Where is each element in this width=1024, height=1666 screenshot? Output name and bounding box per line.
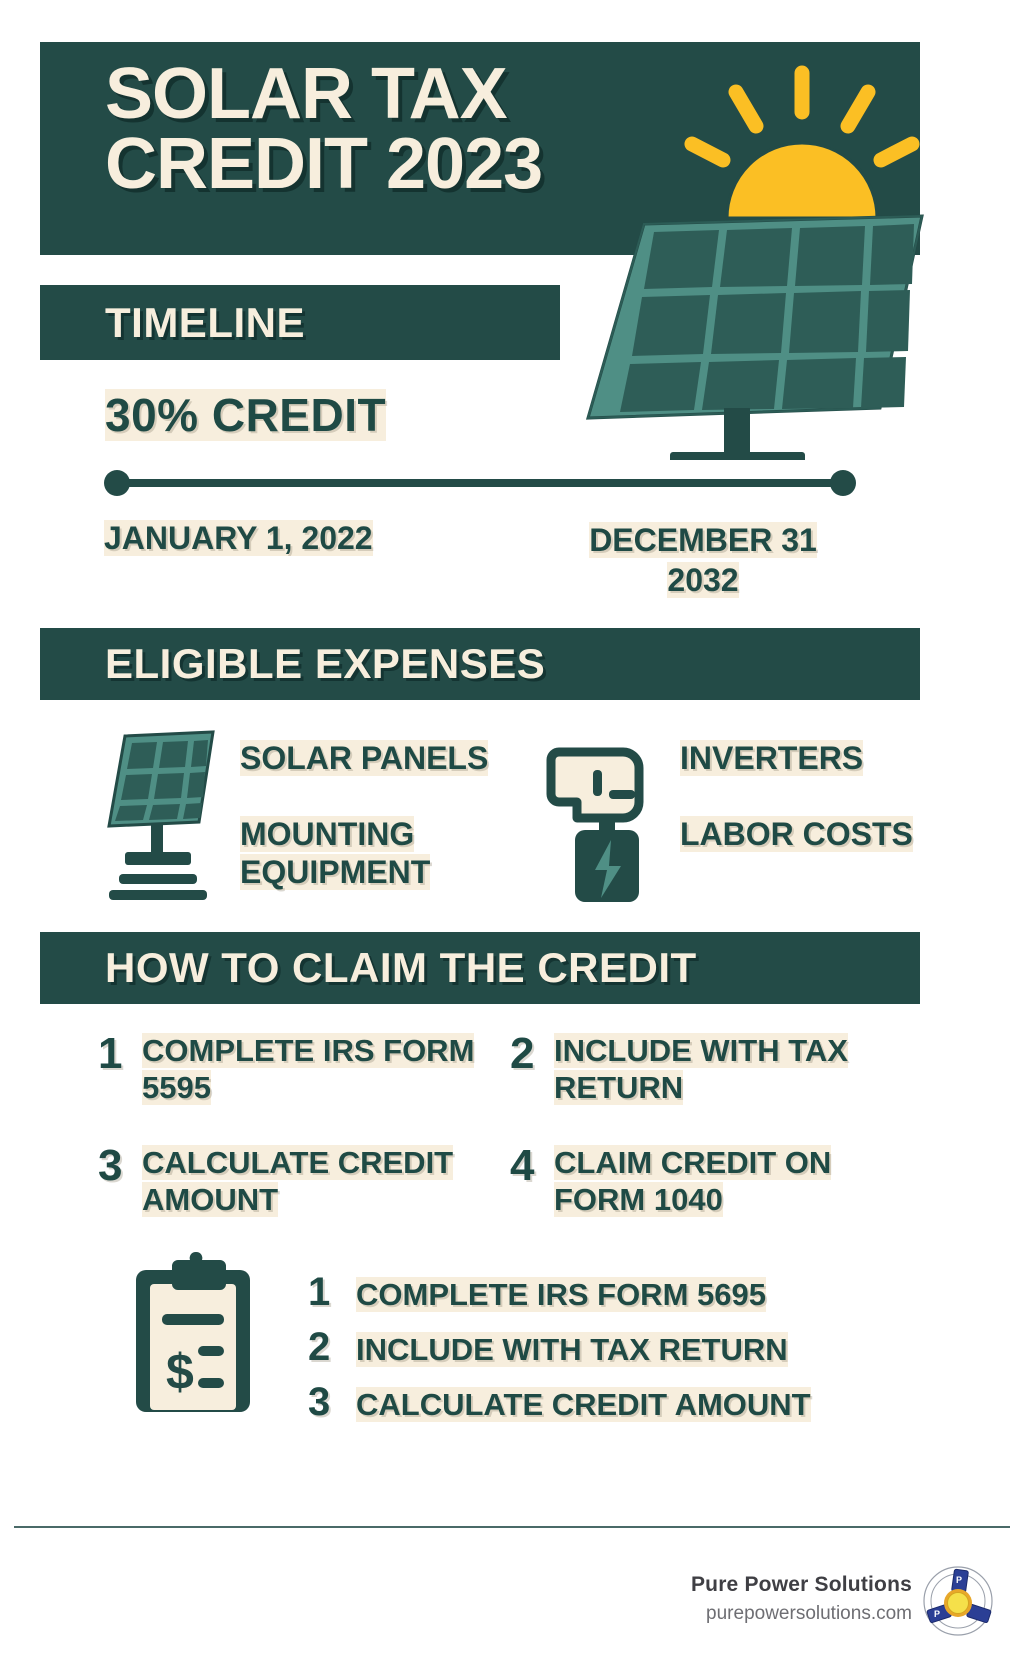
step-label: COMPLETE IRS FORM 5595 <box>142 1032 478 1106</box>
footer: Pure Power Solutions purepowersolutions.… <box>0 1545 1024 1655</box>
sun-and-panel-icon <box>540 40 980 460</box>
pure-power-solutions-logo: P P <box>922 1565 994 1637</box>
claim-step: 3 CALCULATE CREDIT AMOUNT <box>98 1144 478 1218</box>
timeline-line <box>114 479 846 487</box>
checklist-label: INCLUDE WITH TAX RETURN <box>356 1332 788 1368</box>
checklist-label: COMPLETE IRS FORM 5695 <box>356 1277 766 1313</box>
step-label: CLAIM CREDIT ON FORM 1040 <box>554 1144 890 1218</box>
step-number: 2 <box>510 1032 554 1076</box>
section-header-eligible-expenses: ELIGIBLE EXPENSES <box>40 628 920 700</box>
inverter-icon <box>551 752 639 818</box>
svg-text:P: P <box>934 1609 940 1619</box>
step-label: CALCULATE CREDIT AMOUNT <box>142 1144 478 1218</box>
eligible-item-mounting-equipment: MOUNTING EQUIPMENT <box>240 816 510 892</box>
eligible-left-labels: SOLAR PANELS MOUNTING EQUIPMENT <box>240 740 510 891</box>
battery-icon <box>575 822 639 902</box>
checklist-row: 2 INCLUDE WITH TAX RETURN <box>308 1325 988 1370</box>
footer-divider <box>14 1526 1010 1528</box>
step-label: INCLUDE WITH TAX RETURN <box>554 1032 890 1106</box>
svg-text:$: $ <box>166 1344 194 1400</box>
section-header-timeline: TIMELINE <box>40 285 560 360</box>
sun-dome-icon <box>727 143 877 218</box>
infographic-page: SOLAR TAX CREDIT 2023 <box>0 0 1024 1666</box>
hero-solar-artwork <box>540 40 980 460</box>
checklist-label: CALCULATE CREDIT AMOUNT <box>356 1387 811 1423</box>
svg-text:P: P <box>956 1575 962 1585</box>
checklist-row: 1 COMPLETE IRS FORM 5695 <box>308 1270 988 1315</box>
brand-name: Pure Power Solutions <box>691 1573 912 1597</box>
solar-panel-icon <box>588 216 922 460</box>
timeline-end-label: DECEMBER 31 2032 <box>553 520 853 600</box>
timeline-heading: TIMELINE <box>105 299 305 347</box>
claim-heading: HOW TO CLAIM THE CREDIT <box>105 944 697 992</box>
solar-panel-icon <box>95 718 225 908</box>
claim-steps-grid: 1 COMPLETE IRS FORM 5595 2 INCLUDE WITH … <box>98 1032 928 1242</box>
checklist-number: 3 <box>308 1380 356 1425</box>
eligible-heading: ELIGIBLE EXPENSES <box>105 640 545 688</box>
checklist-number: 1 <box>308 1270 356 1315</box>
step-number: 1 <box>98 1032 142 1076</box>
timeline-end-dot <box>830 470 856 496</box>
claim-step: 2 INCLUDE WITH TAX RETURN <box>510 1032 890 1106</box>
inverter-and-battery-icons <box>535 718 665 908</box>
claim-step: 4 CLAIM CREDIT ON FORM 1040 <box>510 1144 890 1218</box>
claim-checklist: $ 1 COMPLETE IRS FORM 5695 2 INCLUDE WIT… <box>128 1248 928 1428</box>
eligible-column-left: SOLAR PANELS MOUNTING EQUIPMENT <box>95 718 495 918</box>
clipboard-dollar-icon: $ <box>128 1248 258 1418</box>
checklist-row: 3 CALCULATE CREDIT AMOUNT <box>308 1380 988 1425</box>
eligible-expenses-grid: SOLAR PANELS MOUNTING EQUIPMENT <box>95 718 915 918</box>
eligible-right-labels: INVERTERS LABOR COSTS <box>680 740 950 854</box>
eligible-column-right: INVERTERS LABOR COSTS <box>535 718 935 918</box>
timeline-track <box>104 470 856 496</box>
step-number: 3 <box>98 1144 142 1188</box>
footer-brand-text: Pure Power Solutions purepowersolutions.… <box>691 1573 912 1625</box>
section-header-how-to-claim: HOW TO CLAIM THE CREDIT <box>40 932 920 1004</box>
eligible-item-labor-costs: LABOR COSTS <box>680 816 950 854</box>
checklist-number: 2 <box>308 1325 356 1370</box>
timeline-start-label: JANUARY 1, 2022 <box>104 520 373 557</box>
eligible-item-solar-panels: SOLAR PANELS <box>240 740 510 778</box>
step-number: 4 <box>510 1144 554 1188</box>
timeline-start-dot <box>104 470 130 496</box>
eligible-item-inverters: INVERTERS <box>680 740 950 778</box>
credit-percentage: 30% CREDIT <box>105 388 386 442</box>
checklist-rows: 1 COMPLETE IRS FORM 5695 2 INCLUDE WITH … <box>308 1270 988 1435</box>
claim-step: 1 COMPLETE IRS FORM 5595 <box>98 1032 478 1106</box>
brand-url[interactable]: purepowersolutions.com <box>691 1603 912 1625</box>
